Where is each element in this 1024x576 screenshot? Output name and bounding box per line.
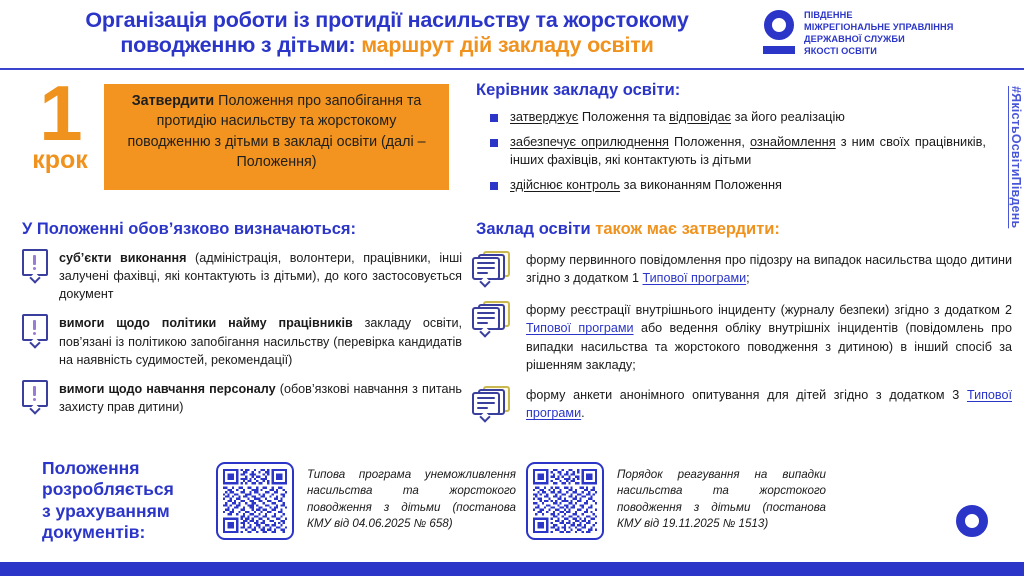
logo-line-2: МІЖРЕГІОНАЛЬНЕ УПРАВЛІННЯ xyxy=(804,21,953,33)
qr-document-1: Типова програма унеможливлення насильств… xyxy=(216,462,516,540)
approvals-item-0-text: форму первинного повідомлення про підозр… xyxy=(526,250,1012,289)
footer-logo-icon xyxy=(956,505,988,537)
approvals-item-1-text: форму реєстрації внутрішнього інциденту … xyxy=(526,300,1012,374)
step-badge: 1 крок xyxy=(22,78,98,194)
title-line-2-orange: маршрут дій закладу освіти xyxy=(361,33,653,57)
provisions-item-2-text: вимоги щодо навчання персоналу (обов’язк… xyxy=(59,379,462,416)
organization-logo: ПІВДЕННЕ МІЖРЕГІОНАЛЬНЕ УПРАВЛІННЯ ДЕРЖА… xyxy=(752,9,953,58)
footer-bar xyxy=(0,562,1024,576)
step-box-bold: Затвердити xyxy=(132,93,215,109)
approvals-item-1-p1: форму реєстрації внутрішнього інциденту … xyxy=(526,303,1012,317)
hashtag-label: #ЯкістьОсвітиПівдень xyxy=(1009,86,1023,228)
list-item: здійснює контроль за виконанням Положенн… xyxy=(486,176,986,195)
qr-caption: Типова програма унеможливлення насильств… xyxy=(307,462,516,533)
approvals-section-title: Заклад освіти також має затвердити: xyxy=(476,220,780,239)
footer-label-line-1: Положення xyxy=(42,458,174,479)
leader-item-2-text-1: за виконанням Положення xyxy=(620,177,782,192)
step-description-box: Затвердити Положення про запобігання та … xyxy=(104,84,449,190)
provisions-item-2-bold: вимоги щодо навчання персоналу xyxy=(59,382,276,396)
approvals-list: форму первинного повідомлення про підозр… xyxy=(472,250,1012,435)
approvals-item-2-p2: . xyxy=(581,406,585,420)
list-item: форму первинного повідомлення про підозр… xyxy=(472,250,1012,289)
approvals-title-blue: Заклад освіти xyxy=(476,220,591,238)
logo-line-4: ЯКОСТІ ОСВІТИ xyxy=(804,45,953,57)
organization-name: ПІВДЕННЕ МІЖРЕГІОНАЛЬНЕ УПРАВЛІННЯ ДЕРЖА… xyxy=(804,9,953,58)
southern-quality-service-logo-icon xyxy=(762,10,796,56)
footer-label-line-3: з урахуванням xyxy=(42,501,174,522)
leader-item-0-underline-1: затверджує xyxy=(510,109,578,124)
leader-item-0-text-2: за його реалізацію xyxy=(731,109,845,124)
provisions-list: суб’єкти виконання (адміністрація, волон… xyxy=(22,248,462,426)
typical-program-link[interactable]: Типової програми xyxy=(642,271,746,285)
infographic-page: Організація роботи із протидії насильств… xyxy=(0,0,1024,576)
provisions-item-0-bold: суб’єкти виконання xyxy=(59,251,187,265)
leader-item-1-text-1: Положення, xyxy=(669,134,750,149)
approvals-item-0-p1: форму первинного повідомлення про підозр… xyxy=(526,253,1012,285)
list-item: затверджує Положення та відповідає за йо… xyxy=(486,108,986,127)
exclamation-bubble-icon xyxy=(22,380,48,413)
list-item: вимоги щодо політики найму працівників з… xyxy=(22,313,462,368)
qr-document-2: Порядок реагування на випадки насильства… xyxy=(526,462,826,540)
list-item: вимоги щодо навчання персоналу (обов’язк… xyxy=(22,379,462,416)
approvals-title-orange: також має затвердити: xyxy=(591,220,780,238)
qr-code-icon[interactable] xyxy=(216,462,294,540)
typical-program-link[interactable]: Типової програми xyxy=(526,321,634,335)
leader-item-0-text-1: Положення та xyxy=(578,109,669,124)
approvals-item-2-text: форму анкети анонімного опитування для д… xyxy=(526,385,1012,424)
provisions-item-1-bold: вимоги щодо політики найму працівників xyxy=(59,316,353,330)
stacked-document-icon xyxy=(472,301,512,339)
list-item: форму анкети анонімного опитування для д… xyxy=(472,385,1012,424)
footer-documents-label: Положення розробляється з урахуванням до… xyxy=(42,458,174,543)
logo-line-3: ДЕРЖАВНОЇ СЛУЖБИ xyxy=(804,33,953,45)
exclamation-bubble-icon xyxy=(22,314,48,347)
exclamation-bubble-icon xyxy=(22,249,48,282)
stacked-document-icon xyxy=(472,386,512,424)
qr-code-svg xyxy=(223,469,287,533)
qr-code-icon[interactable] xyxy=(526,462,604,540)
leader-item-2-underline-1: здійснює контроль xyxy=(510,177,620,192)
list-item: суб’єкти виконання (адміністрація, волон… xyxy=(22,248,462,303)
approvals-item-2-p1: форму анкети анонімного опитування для д… xyxy=(526,388,967,402)
step-word: крок xyxy=(22,148,98,173)
footer-label-line-4: документів: xyxy=(42,522,174,543)
list-item: форму реєстрації внутрішнього інциденту … xyxy=(472,300,1012,374)
leader-item-1-underline-1: забезпечує оприлюднення xyxy=(510,134,669,149)
leader-list: затверджує Положення та відповідає за йо… xyxy=(486,108,986,200)
leader-section-title: Керівник закладу освіти: xyxy=(476,81,680,100)
provisions-item-1-text: вимоги щодо політики найму працівників з… xyxy=(59,313,462,368)
leader-item-1-underline-2: ознайомлення xyxy=(750,134,836,149)
approvals-item-0-p2: ; xyxy=(746,271,750,285)
qr-code-svg xyxy=(533,469,597,533)
logo-line-1: ПІВДЕННЕ xyxy=(804,9,953,21)
header-divider xyxy=(0,68,1024,70)
footer-label-line-2: розробляється xyxy=(42,479,174,500)
page-header: Організація роботи із протидії насильств… xyxy=(0,0,1024,66)
title-line-2-blue: поводженню з дітьми: xyxy=(120,33,355,57)
stacked-document-icon xyxy=(472,251,512,289)
page-title: Організація роботи із протидії насильств… xyxy=(0,8,752,59)
leader-item-0-underline-2: відповідає xyxy=(669,109,731,124)
step-number: 1 xyxy=(22,78,98,150)
provisions-item-0-text: суб’єкти виконання (адміністрація, волон… xyxy=(59,248,462,303)
title-line-1: Організація роботи із протидії насильств… xyxy=(22,8,752,33)
qr-caption: Порядок реагування на випадки насильства… xyxy=(617,462,826,533)
provisions-section-title: У Положенні обов’язково визначаються: xyxy=(22,220,356,239)
list-item: забезпечує оприлюднення Положення, ознай… xyxy=(486,133,986,170)
